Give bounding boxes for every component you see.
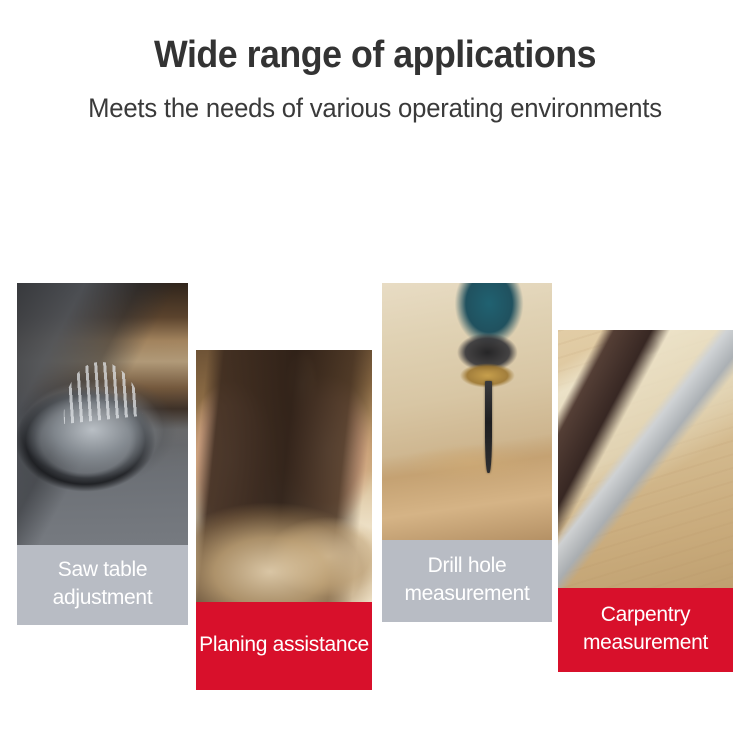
panel-drill-hole-measurement[interactable]: Drill hole measurement [382,283,552,622]
panel-photo-planing-assistance [196,350,372,602]
panel-photo-saw-table-adjustment [17,283,188,545]
promo-page: Wide range of applications Meets the nee… [0,0,750,750]
drill-bit-icon [485,381,492,474]
panel-carpentry-measurement[interactable]: Carpentry measurement [558,330,733,672]
panel-caption-carpentry-measurement: Carpentry measurement [558,588,733,672]
panel-saw-table-adjustment[interactable]: Saw table adjustment [17,283,188,625]
saw-blade-icon [17,283,188,545]
panel-planing-assistance[interactable]: Planing assistance [196,350,372,690]
panel-caption-drill-hole-measurement: Drill hole measurement [382,540,552,622]
panel-photo-carpentry-measurement [558,330,733,588]
panel-caption-saw-table-adjustment: Saw table adjustment [17,545,188,625]
panel-photo-drill-hole-measurement [382,283,552,540]
power-drill-icon [382,283,552,540]
try-square-icon [558,330,733,588]
hand-plane-icon [196,350,372,602]
application-panels: Saw table adjustment Planing assistance … [0,0,750,750]
panel-caption-planing-assistance: Planing assistance [196,602,372,690]
saw-teeth-icon [59,358,143,424]
